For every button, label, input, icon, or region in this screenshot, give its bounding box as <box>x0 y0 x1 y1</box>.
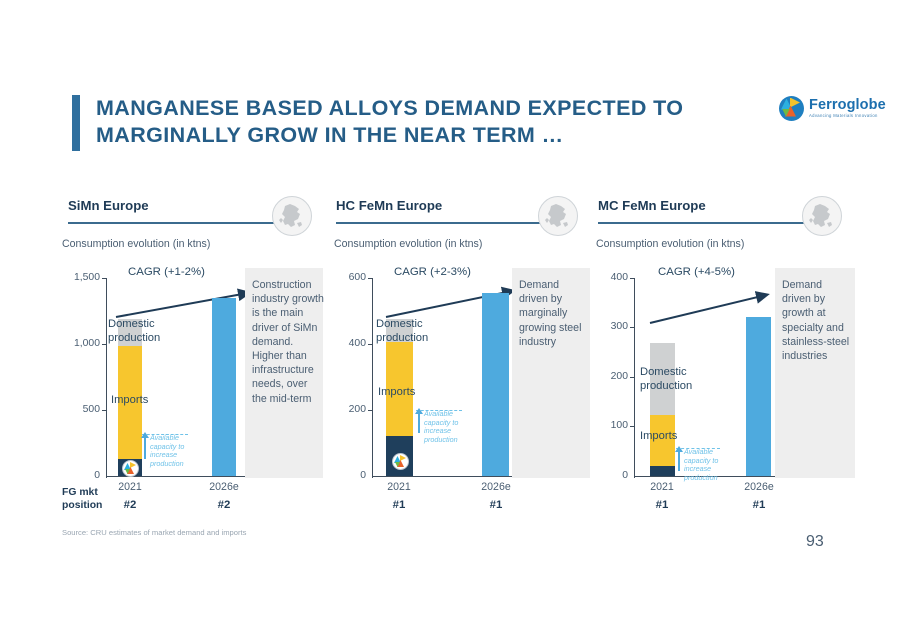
fg-mkt-label-l2: position <box>62 500 102 513</box>
logo-name: Ferroglobe <box>809 98 886 113</box>
y-tick <box>630 278 635 279</box>
label-domestic-production: Domestic production <box>640 366 692 393</box>
note-text-hcfemn: Demand driven by marginally growing stee… <box>519 278 593 349</box>
europe-globe-icon <box>538 196 578 236</box>
note-line: is the main <box>252 306 324 320</box>
x-tick-label-2021: 2021 <box>375 481 423 493</box>
bar-2026e-hcfemn[interactable] <box>482 293 509 476</box>
y-axis-hcfemn <box>372 278 373 478</box>
note-line: stainless-steel <box>782 335 858 349</box>
cagr-label-simn: CAGR (+1-2%) <box>128 266 205 278</box>
y-tick-label: 1,000 <box>56 338 100 349</box>
y-tick <box>630 426 635 427</box>
note-line: industries <box>782 349 858 363</box>
note-line: industry <box>519 335 593 349</box>
bar-2026e-simn[interactable] <box>212 298 236 476</box>
page-title: MANGANESE BASED ALLOYS DEMAND EXPECTED T… <box>72 95 683 151</box>
x-tick-label-2021: 2021 <box>638 481 686 493</box>
capacity-note-l4: production <box>424 436 488 445</box>
label-domestic-production: Domestic production <box>376 318 428 345</box>
note-line: growing steel <box>519 321 593 335</box>
ferroglobe-logo: Ferroglobe Advancing Materials Innovatio… <box>779 92 883 124</box>
y-tick-label: 400 <box>326 338 366 349</box>
y-tick <box>630 377 635 378</box>
section-rule <box>68 222 300 224</box>
section-title-mcfemn: MC FeMn Europe <box>598 198 706 213</box>
y-tick-label: 1,500 <box>56 272 100 283</box>
fg-position-2026e-hcfemn: #1 <box>472 499 520 511</box>
x-tick-label-2021: 2021 <box>106 481 154 493</box>
cagr-label-hcfemn: CAGR (+2-3%) <box>394 266 471 278</box>
capacity-note-mcfemn: Available capacity to increase productio… <box>684 448 746 482</box>
fg-mkt-position-label: FG mkt position <box>62 487 102 512</box>
y-tick <box>368 344 373 345</box>
y-tick-label: 400 <box>588 272 628 283</box>
note-line: industry growth <box>252 292 324 306</box>
note-line: driven by <box>519 292 593 306</box>
label-imports: Imports <box>640 430 677 442</box>
fg-position-2021-hcfemn: #1 <box>375 499 423 511</box>
capacity-up-arrow-icon <box>674 446 684 456</box>
globe-logo-mark-icon <box>779 96 804 121</box>
y-tick <box>102 278 107 279</box>
note-line: driven by <box>782 292 858 306</box>
europe-globe-icon <box>802 196 842 236</box>
capacity-note-simn: Available capacity to increase productio… <box>150 434 210 468</box>
x-tick-label-2026e: 2026e <box>735 481 783 493</box>
chart-subtitle-hcfemn: Consumption evolution (in ktns) <box>334 238 482 250</box>
note-line: needs, over <box>252 377 324 391</box>
y-tick-label: 200 <box>588 371 628 382</box>
y-tick <box>630 327 635 328</box>
ferroglobe-badge-icon <box>122 460 139 477</box>
x-tick-label-2026e: 2026e <box>472 481 520 493</box>
note-line: specialty and <box>782 321 858 335</box>
logo-tagline: Advancing Materials Innovation <box>809 114 886 118</box>
note-line: infrastructure <box>252 363 324 377</box>
section-header-hcfemn: HC FeMn Europe <box>336 198 566 232</box>
y-tick <box>368 278 373 279</box>
growth-arrow-icon <box>646 288 796 330</box>
y-tick-label: 100 <box>588 420 628 431</box>
europe-globe-icon <box>272 196 312 236</box>
label-imports: Imports <box>111 394 148 406</box>
y-axis-simn <box>106 278 107 478</box>
y-tick <box>102 344 107 345</box>
ferroglobe-badge-icon <box>392 453 409 470</box>
label-domestic-l2: production <box>640 380 692 394</box>
capacity-up-arrow-icon <box>414 408 424 418</box>
capacity-note-hcfemn: Available capacity to increase productio… <box>424 410 488 444</box>
note-text-simn: Construction industry growth is the main… <box>252 278 324 406</box>
note-line: Higher than <box>252 349 324 363</box>
bar-2021-mcfemn[interactable] <box>650 343 675 476</box>
note-line: Demand <box>782 278 858 292</box>
label-imports: Imports <box>378 386 415 398</box>
section-rule <box>598 222 830 224</box>
label-domestic-production: Domestic production <box>108 318 160 345</box>
note-line: demand. <box>252 335 324 349</box>
cagr-label-mcfemn: CAGR (+4-5%) <box>658 266 735 278</box>
section-rule <box>336 222 566 224</box>
label-domestic-l1: Domestic <box>640 366 692 380</box>
bar-2026e-mcfemn[interactable] <box>746 317 771 476</box>
chart-subtitle-mcfemn: Consumption evolution (in ktns) <box>596 238 744 250</box>
section-header-simn: SiMn Europe <box>68 198 300 232</box>
y-tick-label: 500 <box>56 404 100 415</box>
fg-position-2021-mcfemn: #1 <box>638 499 686 511</box>
fg-mkt-label-l1: FG mkt <box>62 487 102 500</box>
title-line-1: MANGANESE BASED ALLOYS DEMAND EXPECTED T… <box>96 95 683 122</box>
bar-segment-ferroglobe <box>650 466 675 476</box>
fg-position-2026e-simn: #2 <box>200 499 248 511</box>
x-tick-label-2026e: 2026e <box>200 481 248 493</box>
y-tick-label: 0 <box>326 470 366 481</box>
note-text-mcfemn: Demand driven by growth at specialty and… <box>782 278 858 363</box>
page-number: 93 <box>806 533 824 551</box>
title-accent-bar <box>72 95 80 151</box>
title-line-2: MARGINALLY GROW IN THE NEAR TERM … <box>96 122 683 149</box>
y-tick-label: 0 <box>588 470 628 481</box>
y-tick-label: 600 <box>326 272 366 283</box>
note-line: growth at <box>782 306 858 320</box>
source-note: Source: CRU estimates of market demand a… <box>62 528 246 537</box>
note-line: Construction <box>252 278 324 292</box>
note-line: the mid-term <box>252 392 324 406</box>
capacity-note-l4: production <box>150 460 210 469</box>
note-line: marginally <box>519 306 593 320</box>
y-tick-label: 300 <box>588 321 628 332</box>
label-domestic-l2: production <box>376 332 428 346</box>
section-header-mcfemn: MC FeMn Europe <box>598 198 830 232</box>
section-title-hcfemn: HC FeMn Europe <box>336 198 442 213</box>
note-line: driver of SiMn <box>252 321 324 335</box>
section-title-simn: SiMn Europe <box>68 198 149 213</box>
y-tick-label: 0 <box>56 470 100 481</box>
slide-canvas: MANGANESE BASED ALLOYS DEMAND EXPECTED T… <box>0 0 898 635</box>
label-domestic-l2: production <box>108 332 160 346</box>
y-tick <box>368 410 373 411</box>
label-domestic-l1: Domestic <box>108 318 160 332</box>
chart-subtitle-simn: Consumption evolution (in ktns) <box>62 238 210 250</box>
y-tick <box>102 410 107 411</box>
fg-position-2026e-mcfemn: #1 <box>735 499 783 511</box>
note-line: Demand <box>519 278 593 292</box>
capacity-up-arrow-icon <box>140 432 150 442</box>
label-domestic-l1: Domestic <box>376 318 428 332</box>
y-tick-label: 200 <box>326 404 366 415</box>
fg-position-2021-simn: #2 <box>106 499 154 511</box>
